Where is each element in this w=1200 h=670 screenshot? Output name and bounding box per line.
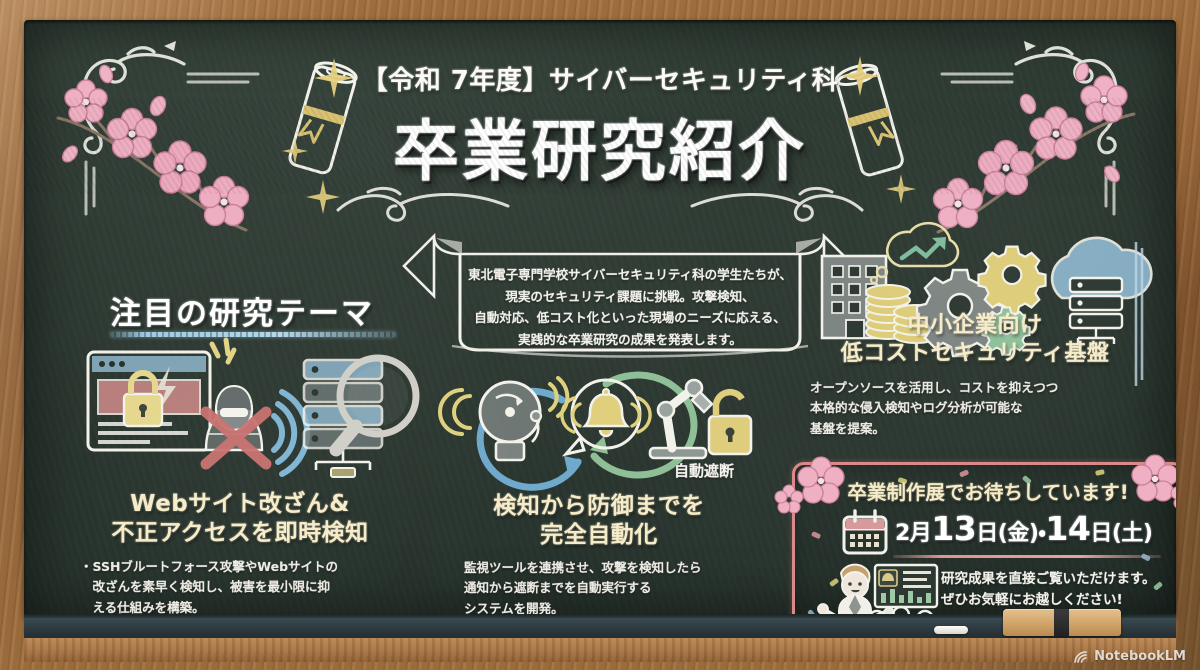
event-date-day1-weekday: (金) <box>998 521 1039 546</box>
presenter-scene <box>815 561 941 618</box>
column-1-title-line: 不正アクセスを即時検知 <box>80 519 400 548</box>
column-1-title-line: Webサイト改ざん& <box>80 490 400 519</box>
event-date-month: 2月 <box>895 521 931 546</box>
eraser-band <box>1054 609 1069 636</box>
poster-title: 卒業研究紹介 <box>24 98 1176 194</box>
event-note-line: 研究成果を直接ご覧いただけます。 <box>941 569 1169 590</box>
blackboard-eraser[interactable] <box>1003 609 1121 636</box>
section-heading-underline <box>110 332 396 337</box>
event-note: 研究成果を直接ご覧いただけます。 ぜひお気軽にお越しください! <box>941 569 1169 611</box>
ledge-wood-front <box>24 638 1176 662</box>
ribbon-line: 自動対応、低コスト化といった現場のニーズに応える、 <box>456 307 804 329</box>
poster-subtitle: 【令和 7年度】サイバーセキュリティ科 <box>24 60 1176 97</box>
event-date-underline <box>893 555 1161 558</box>
column-1-icons <box>78 338 418 488</box>
event-title: 卒業制作展でお待ちしています! <box>795 476 1176 505</box>
calendar-icon <box>841 509 889 557</box>
column-3-body-line: オープンソースを活用し、コストを抑えつつ <box>810 378 1122 398</box>
column-3-title-line: 低コストセキュリティ基盤 <box>810 340 1140 368</box>
chalk-stick[interactable] <box>934 626 968 634</box>
section-heading: 注目の研究テーマ <box>110 288 410 333</box>
column-2-title: 検知から防御までを 完全自動化 <box>444 492 754 550</box>
event-date-day2-suffix: 日 <box>1090 521 1112 546</box>
column-1-body-line: ・SSHブルートフォース攻撃やWebサイトの <box>80 557 400 577</box>
column-2-title-line: 完全自動化 <box>444 521 754 550</box>
column-1-body-line: 改ざんを素早く検知し、被害を最小限に抑 <box>80 577 400 597</box>
column-3-body-line: 基盤を提案。 <box>810 419 1122 439</box>
event-date-day1-suffix: 日 <box>976 521 998 546</box>
ribbon-banner: 東北電子専門学校サイバーセキュリティ科の学生たちが、 現実のセキュリティ課題に挑… <box>404 218 854 358</box>
column-2-body-line: 通知から遮断までを自動実行する <box>464 578 754 598</box>
column-3-title-line: 中小企業向け <box>810 312 1140 340</box>
event-date-day1: 13 <box>931 509 976 548</box>
notebooklm-spark-icon <box>1073 650 1089 664</box>
ribbon-line: 実践的な卒業研究の成果を発表します。 <box>456 329 804 351</box>
column-1-title: Webサイト改ざん& 不正アクセスを即時検知 <box>80 490 400 548</box>
chalkboard: 【令和 7年度】サイバーセキュリティ科 卒業研究紹介 <box>24 20 1176 618</box>
ribbon-line: 東北電子専門学校サイバーセキュリティ科の学生たちが、 <box>456 264 804 286</box>
column-2-body: 監視ツールを連携させ、攻撃を検知したら 通知から遮断までを自動実行する システム… <box>464 558 754 618</box>
auto-block-label: 自動遮断 <box>674 460 734 481</box>
column-3-body-line: 本格的な侵入検知やログ分析が可能な <box>810 398 1122 418</box>
column-3-title: 中小企業向け 低コストセキュリティ基盤 <box>810 312 1140 367</box>
event-date-day2-weekday: (土) <box>1112 521 1153 546</box>
event-note-line: ぜひお気軽にお越しください! <box>941 590 1169 611</box>
event-date-day2: 14 <box>1045 509 1090 548</box>
column-2-title-line: 検知から防御までを <box>444 492 754 521</box>
ribbon-text: 東北電子専門学校サイバーセキュリティ科の学生たちが、 現実のセキュリティ課題に挑… <box>456 264 804 350</box>
watermark-label: NotebookLM <box>1094 649 1186 664</box>
ribbon-line: 現実のセキュリティ課題に挑戦。攻撃検知、 <box>456 286 804 308</box>
poster-root: 【令和 7年度】サイバーセキュリティ科 卒業研究紹介 <box>0 0 1200 670</box>
event-date: 2月13日(金)・14日(土) <box>895 509 1152 548</box>
watermark: NotebookLM <box>1073 649 1186 664</box>
column-3-body: オープンソースを活用し、コストを抑えつつ 本格的な侵入検知やログ分析が可能な 基… <box>810 378 1122 439</box>
column-1-body: ・SSHブルートフォース攻撃やWebサイトの 改ざんを素早く検知し、被害を最小限… <box>80 557 400 618</box>
column-2-body-line: 監視ツールを連携させ、攻撃を検知したら <box>464 558 754 578</box>
event-box: 卒業制作展でお待ちしています! 2月13日(金)・14日(土) <box>792 462 1176 618</box>
